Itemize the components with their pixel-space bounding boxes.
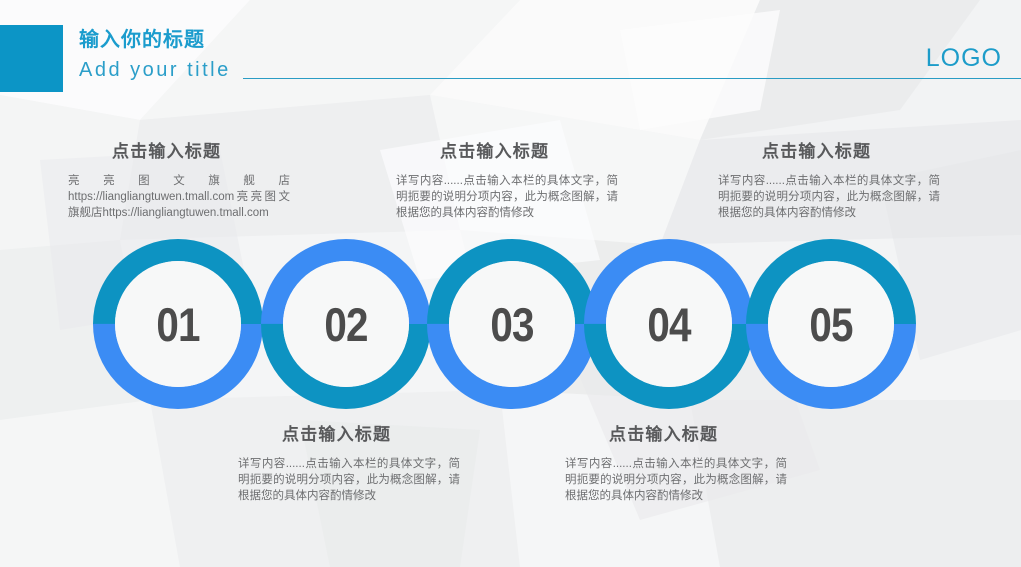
slide-header: 输入你的标题 Add your title LOGO [0,0,1021,100]
caption-title-05: 点击输入标题 [762,141,940,163]
page-title-en: Add your title [79,56,231,84]
caption-block-04: 点击输入标题 详写内容......点击输入本栏的具体文字，简明扼要的说明分项内容… [565,424,787,504]
logo-placeholder: LOGO [926,43,1002,73]
page-title-cn: 输入你的标题 [79,26,231,54]
circle-step-02[interactable]: 02 [260,238,432,410]
caption-title-04: 点击输入标题 [609,424,787,446]
caption-body-05: 详写内容......点击输入本栏的具体文字，简明扼要的说明分项内容，此为概念图解… [718,173,940,221]
circle-number-02: 02 [272,238,420,410]
caption-block-05: 点击输入标题 详写内容......点击输入本栏的具体文字，简明扼要的说明分项内容… [718,141,940,221]
caption-body-04: 详写内容......点击输入本栏的具体文字，简明扼要的说明分项内容，此为概念图解… [565,456,787,504]
caption-title-03: 点击输入标题 [440,141,618,163]
caption-block-01: 点击输入标题 亮亮图文旗舰店 https://liangliangtuwen.t… [68,141,290,221]
circle-step-04[interactable]: 04 [583,238,755,410]
circle-step-05[interactable]: 05 [745,238,917,410]
header-accent-square [0,25,63,92]
circle-number-03: 03 [438,238,586,410]
slide-canvas: 输入你的标题 Add your title LOGO 点击输入标题 亮亮图文旗舰… [0,0,1021,567]
caption-title-02: 点击输入标题 [282,424,460,446]
header-divider [243,78,1021,79]
header-title-group: 输入你的标题 Add your title [79,26,231,84]
caption-body-01-rest: https://liangliangtuwen.tmall.com亮亮图文旗舰店… [68,189,290,221]
numbered-circle-row: 01 02 03 04 [0,238,1021,410]
circle-number-04: 04 [595,238,743,410]
caption-body-03: 详写内容......点击输入本栏的具体文字，简明扼要的说明分项内容，此为概念图解… [396,173,618,221]
circle-step-01[interactable]: 01 [92,238,264,410]
circle-step-03[interactable]: 03 [426,238,598,410]
caption-body-02: 详写内容......点击输入本栏的具体文字，简明扼要的说明分项内容，此为概念图解… [238,456,460,504]
caption-block-02: 点击输入标题 详写内容......点击输入本栏的具体文字，简明扼要的说明分项内容… [238,424,460,504]
circle-number-01: 01 [104,238,252,410]
circle-number-05: 05 [757,238,905,410]
caption-body-01-line1: 亮亮图文旗舰店 [68,173,290,189]
caption-title-01: 点击输入标题 [112,141,290,163]
caption-block-03: 点击输入标题 详写内容......点击输入本栏的具体文字，简明扼要的说明分项内容… [396,141,618,221]
